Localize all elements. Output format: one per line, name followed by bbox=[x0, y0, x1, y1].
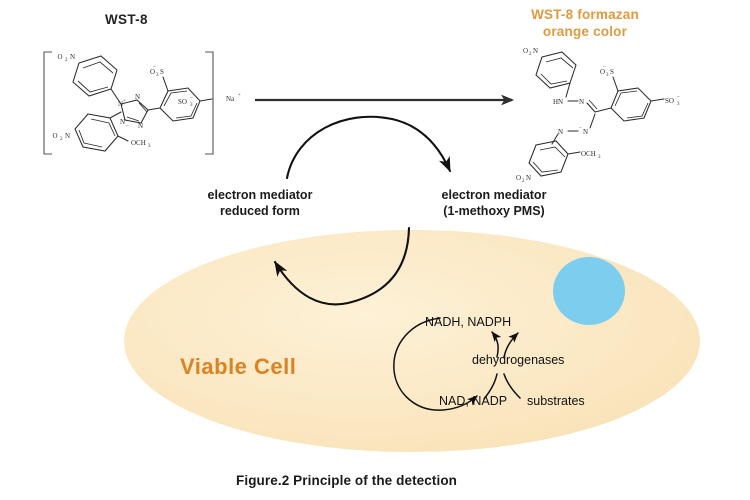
mediator-oxidized-line2: (1-methoxy PMS) bbox=[428, 203, 560, 219]
substrates-label: substrates bbox=[527, 394, 585, 408]
reduced-cofactors-label: NADH, NADPH bbox=[425, 315, 511, 329]
formazan-title-line1: WST-8 formazan bbox=[523, 6, 647, 23]
arrow-layer bbox=[0, 0, 750, 500]
mediator-oxidation-arc bbox=[287, 117, 450, 178]
figure-caption: Figure.2 Principle of the detection bbox=[236, 473, 457, 488]
mediator-reduced-line2: reduced form bbox=[198, 203, 322, 219]
viable-cell-label: Viable Cell bbox=[180, 354, 296, 380]
mediator-reduction-arc bbox=[275, 228, 409, 304]
mediator-oxidized-label: electron mediator (1-methoxy PMS) bbox=[428, 187, 560, 219]
mediator-reduced-line1: electron mediator bbox=[198, 187, 322, 203]
mediator-reduced-label: electron mediator reduced form bbox=[198, 187, 322, 219]
mediator-oxidized-line1: electron mediator bbox=[428, 187, 560, 203]
oxidized-cofactors-label: NAD, NADP bbox=[439, 394, 507, 408]
formazan-title: WST-8 formazan orange color bbox=[523, 6, 647, 40]
dehydrogenases-label: dehydrogenases bbox=[472, 353, 564, 367]
figure-canvas: O 2 N O 2 N OCH 3 N + N N N – bbox=[0, 0, 750, 500]
formazan-title-line2: orange color bbox=[523, 23, 647, 40]
wst8-title: WST-8 bbox=[105, 12, 148, 27]
